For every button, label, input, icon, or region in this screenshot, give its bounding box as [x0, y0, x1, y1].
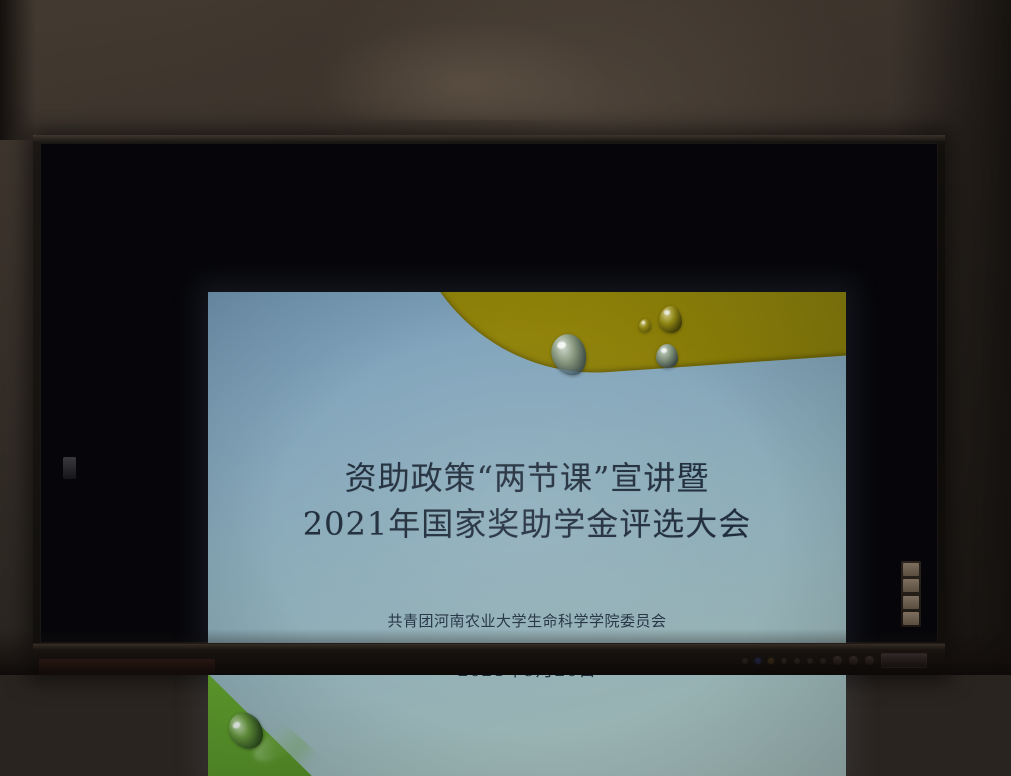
slide-subtitle: 共青团河南农业大学生命科学学院委员会	[208, 610, 846, 632]
droplet-highlight	[231, 721, 241, 730]
status-indicator-4	[794, 658, 800, 664]
volume-knob[interactable]	[833, 656, 842, 665]
water-droplet-icon	[656, 344, 678, 368]
left-bezel-marker	[63, 457, 76, 479]
droplet-highlight	[642, 321, 646, 324]
slide-title-block: 资助政策“两节课”宣讲暨 2021年国家奖助学金评选大会	[208, 455, 846, 547]
droplet-highlight	[556, 341, 567, 350]
status-indicator-blue	[755, 658, 761, 664]
slide-title-line-1: 资助政策“两节课”宣讲暨	[208, 455, 846, 501]
bottom-bar-highlight	[33, 644, 945, 650]
display-bottom-control-bar	[33, 643, 945, 675]
ir-receiver-window	[881, 653, 927, 668]
control-cluster[interactable]	[742, 653, 927, 668]
status-indicator-5	[807, 658, 813, 664]
side-button-4[interactable]	[903, 612, 919, 625]
side-button-1[interactable]	[903, 563, 919, 576]
wall-light-glow	[300, 0, 630, 120]
droplet-highlight	[664, 310, 670, 315]
slide-subtitle-block: 共青团河南农业大学生命科学学院委员会	[208, 610, 846, 632]
status-indicator-amber	[768, 658, 774, 664]
menu-knob[interactable]	[849, 656, 858, 665]
yellow-band-edge-shadow	[406, 292, 846, 385]
wall-shadow-left	[0, 0, 36, 140]
droplet-highlight	[661, 348, 667, 353]
room-scene: 资助政策“两节课”宣讲暨 2021年国家奖助学金评选大会 共青团河南农业大学生命…	[0, 0, 1011, 675]
slide-title-line-2: 2021年国家奖助学金评选大会	[208, 501, 846, 547]
status-indicator-6	[820, 658, 826, 664]
projected-slide: 资助政策“两节课”宣讲暨 2021年国家奖助学金评选大会 共青团河南农业大学生命…	[208, 292, 846, 776]
source-knob[interactable]	[865, 656, 874, 665]
power-indicator	[742, 658, 748, 664]
side-button-2[interactable]	[903, 579, 919, 592]
water-droplet-icon	[639, 319, 651, 332]
side-button-3[interactable]	[903, 596, 919, 609]
status-indicator-3	[781, 658, 787, 664]
display-screen-frame: 资助政策“两节课”宣讲暨 2021年国家奖助学金评选大会 共青团河南农业大学生命…	[40, 143, 938, 643]
interactive-display-unit[interactable]: 资助政策“两节课”宣讲暨 2021年国家奖助学金评选大会 共青团河南农业大学生命…	[33, 135, 945, 675]
brand-strip	[39, 659, 215, 675]
side-button-panel[interactable]	[901, 561, 921, 627]
water-droplet-icon	[659, 306, 682, 333]
